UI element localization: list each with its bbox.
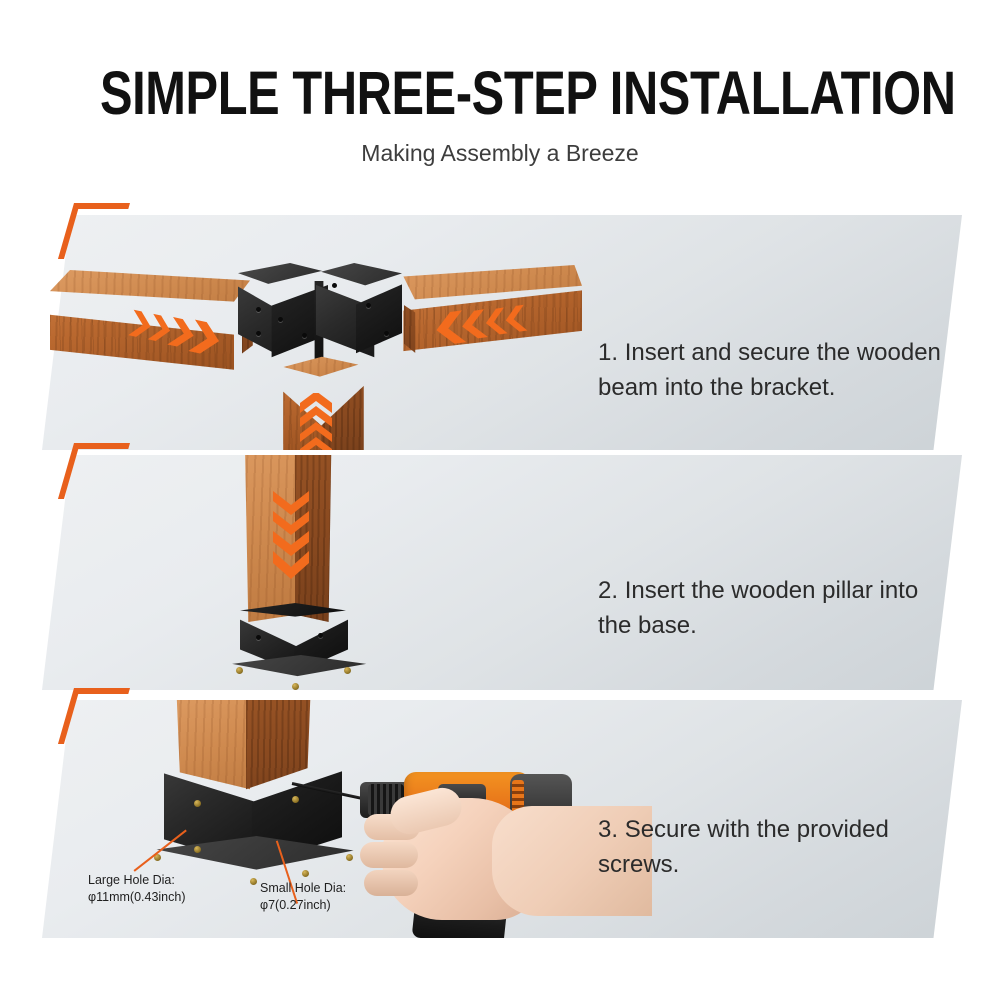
- step-2-body: Insert the wooden pillar into the base.: [598, 577, 918, 639]
- callout-small-hole: Small Hole Dia: φ7(0.27inch): [260, 880, 346, 914]
- infographic-page: SIMPLE THREE-STEP INSTALLATION Making As…: [0, 0, 1000, 1000]
- plate3-screw: [302, 870, 309, 877]
- callout-large-hole: Large Hole Dia: φ11mm(0.43inch): [88, 872, 186, 906]
- chevron-arrow-pillar: [269, 489, 313, 585]
- hand-finger: [360, 842, 418, 868]
- step-panel-3: Large Hole Dia: φ11mm(0.43inch) Small Ho…: [42, 700, 962, 938]
- step-1-illustration: [42, 215, 962, 450]
- page-title: SIMPLE THREE-STEP INSTALLATION: [100, 58, 900, 128]
- base-plate-screw: [292, 683, 299, 690]
- corner-bracket-3way: [238, 245, 398, 370]
- callout-small-hole-line1: Small Hole Dia:: [260, 880, 346, 897]
- step-3-number: 3.: [598, 816, 618, 843]
- step-panel-2: 2. Insert the wooden pillar into the bas…: [42, 455, 962, 690]
- callout-small-hole-line2: φ7(0.27inch): [260, 897, 346, 914]
- wood-beam-right: [392, 265, 582, 365]
- bracket3-screw: [194, 846, 201, 853]
- bracket-hole: [366, 303, 371, 308]
- bracket-hole: [256, 307, 261, 312]
- wood-post-bottom: [270, 355, 366, 450]
- base-wall-hole: [256, 635, 261, 640]
- step-panel-1: 1. Insert and secure the wooden beam int…: [42, 215, 962, 450]
- plate3-screw: [250, 878, 257, 885]
- hand-holding-drill: [342, 792, 642, 938]
- bracket-hole: [302, 333, 307, 338]
- page-subtitle: Making Assembly a Breeze: [0, 140, 1000, 167]
- step-2-text: 2. Insert the wooden pillar into the bas…: [598, 573, 958, 643]
- wooden-pillar: [239, 455, 349, 622]
- bracket-hole: [256, 331, 261, 336]
- step-1-text: 1. Insert and secure the wooden beam int…: [598, 335, 958, 405]
- bracket-hole: [332, 283, 337, 288]
- base-back-rim: [240, 603, 346, 625]
- base-plate-screw: [344, 667, 351, 674]
- hand-finger: [364, 870, 418, 896]
- step-3-text: 3. Secure with the provided screws.: [598, 812, 958, 882]
- wood-beam-left: [50, 270, 250, 365]
- bracket3-screw: [194, 800, 201, 807]
- bracket3-screw: [292, 796, 299, 803]
- bracket-hole: [278, 317, 283, 322]
- step-2-number: 2.: [598, 577, 618, 604]
- post-base-bracket: [230, 603, 358, 685]
- post-top-face: [270, 355, 366, 385]
- callout-large-hole-line1: Large Hole Dia:: [88, 872, 186, 889]
- step-1-body: Insert and secure the wooden beam into t…: [598, 339, 941, 401]
- base-plate-screw: [236, 667, 243, 674]
- bracket-hole: [384, 331, 389, 336]
- chevron-arrow-post: [296, 393, 336, 450]
- base-wall-hole: [318, 633, 323, 638]
- step-3-body: Secure with the provided screws.: [598, 816, 889, 878]
- callout-large-hole-line2: φ11mm(0.43inch): [88, 889, 186, 906]
- step-1-number: 1.: [598, 339, 618, 366]
